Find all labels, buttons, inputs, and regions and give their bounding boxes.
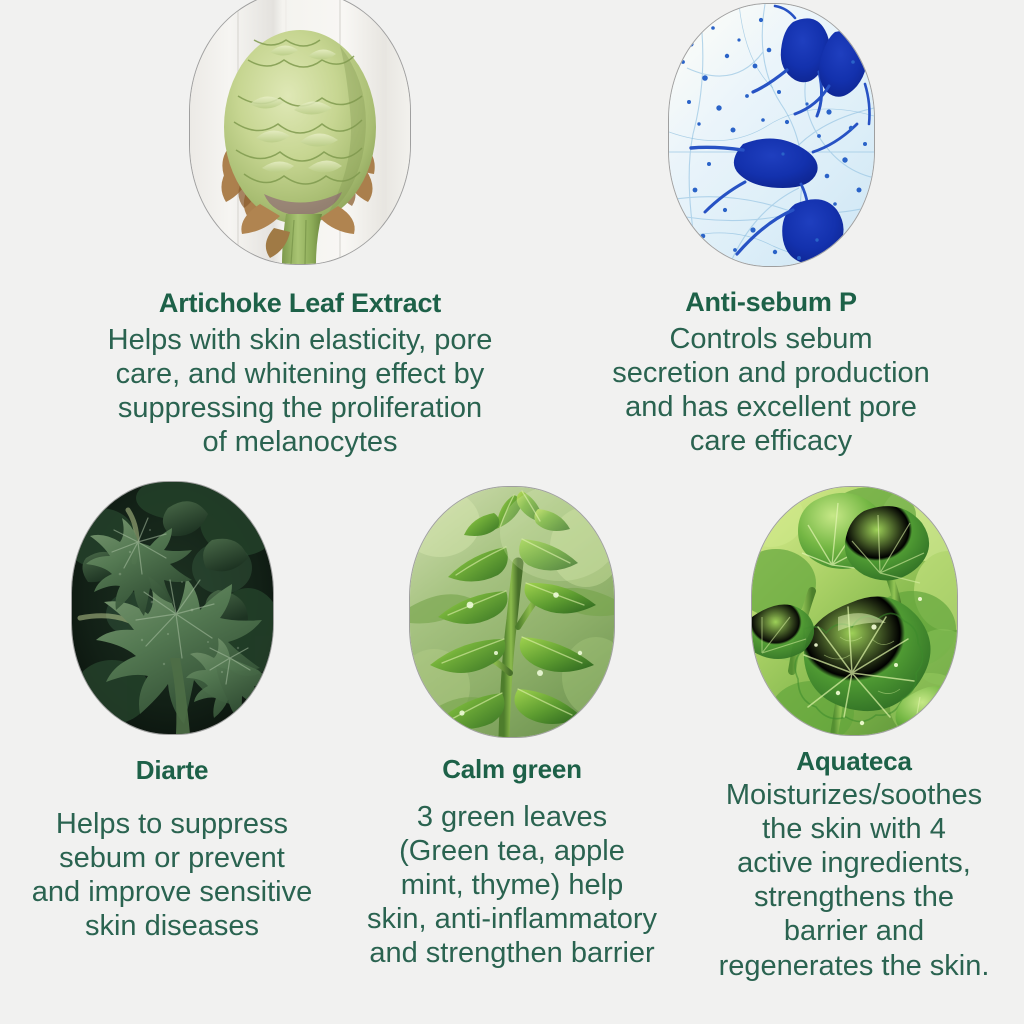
ingredient-title: Aquateca [796, 747, 911, 776]
ingredient-title: Calm green [442, 755, 582, 784]
mugwort-photo [72, 482, 273, 734]
ingredient-description: Helps to suppress sebum or prevent and i… [32, 807, 312, 944]
ingredient-card-antisebum: Anti-sebum P Controls sebum secretion an… [562, 4, 980, 459]
ingredient-card-calmgreen: Calm green 3 green leaves (Green tea, ap… [330, 487, 694, 971]
centella-photo [752, 487, 957, 735]
ingredient-description: 3 green leaves (Green tea, apple mint, t… [367, 800, 657, 971]
microscopy-photo [669, 4, 874, 266]
ingredient-card-diarte: Diarte Helps to suppress sebum or preven… [0, 482, 344, 943]
green-tea-photo [410, 487, 614, 737]
ingredient-infographic: Artichoke Leaf Extract Helps with skin e… [0, 0, 1024, 1024]
ingredient-title: Anti-sebum P [685, 288, 857, 318]
ingredient-title: Artichoke Leaf Extract [159, 289, 441, 319]
ingredient-card-aquateca: Aquateca Moisturizes/soothes the skin wi… [684, 487, 1024, 983]
ingredient-description: Moisturizes/soothes the skin with 4 acti… [719, 778, 990, 983]
artichoke-photo [190, 0, 410, 264]
ingredient-card-artichoke: Artichoke Leaf Extract Helps with skin e… [60, 0, 540, 460]
ingredient-description: Controls sebum secretion and production … [612, 322, 930, 459]
ingredient-description: Helps with skin elasticity, pore care, a… [108, 323, 493, 460]
ingredient-title: Diarte [136, 756, 209, 785]
